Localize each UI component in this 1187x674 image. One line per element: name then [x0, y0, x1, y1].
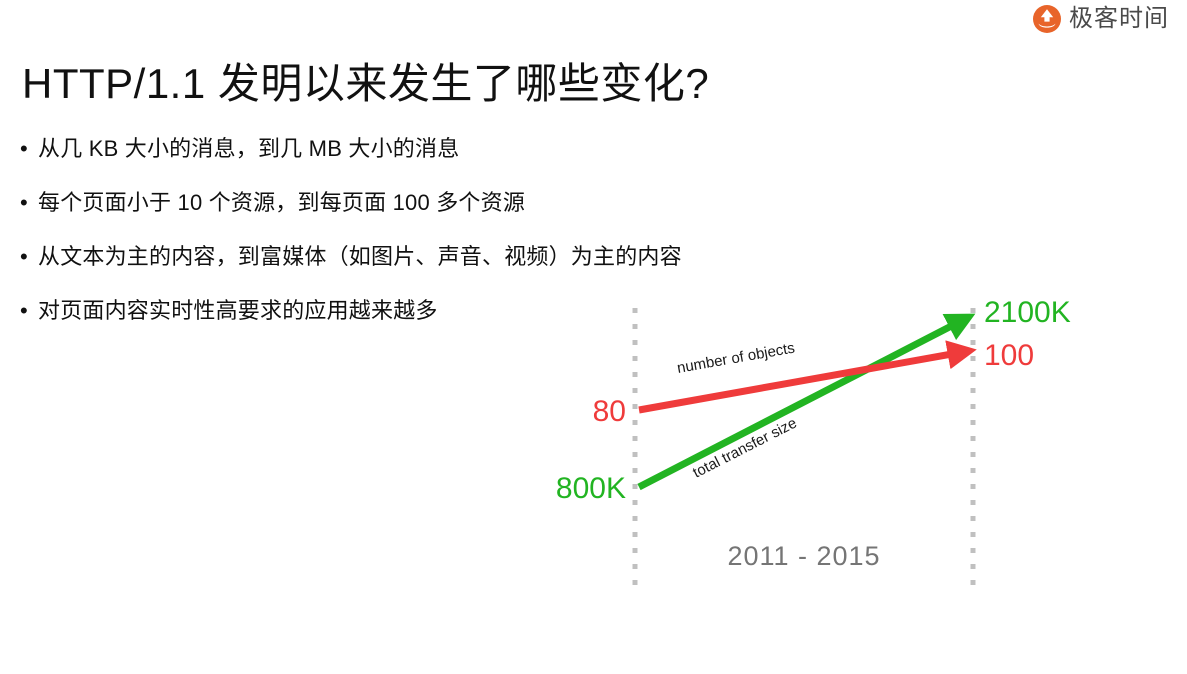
- slide-canvas: 极客时间 HTTP/1.1 发明以来发生了哪些变化? • 从几 KB 大小的消息…: [0, 0, 1187, 674]
- bullet-marker-icon: •: [20, 188, 38, 218]
- list-item: • 从几 KB 大小的消息，到几 MB 大小的消息: [20, 134, 920, 164]
- list-item-label: 对页面内容实时性高要求的应用越来越多: [38, 296, 438, 326]
- list-item: • 从文本为主的内容，到富媒体（如图片、声音、视频）为主的内容: [20, 242, 920, 272]
- list-item-label: 每个页面小于 10 个资源，到每页面 100 多个资源: [38, 188, 525, 218]
- bullet-marker-icon: •: [20, 134, 38, 164]
- period-label: 2011 - 2015: [727, 541, 880, 571]
- bullet-marker-icon: •: [20, 242, 38, 272]
- bullet-marker-icon: •: [20, 296, 38, 326]
- geektime-logo-icon: [1032, 4, 1062, 34]
- brand-name: 极客时间: [1069, 4, 1169, 34]
- value-label-transfer-start: 800K: [556, 472, 626, 505]
- list-item: • 每个页面小于 10 个资源，到每页面 100 多个资源: [20, 188, 920, 218]
- brand-logo: 极客时间: [1032, 4, 1169, 34]
- series-label-number-of-objects: number of objects: [676, 339, 796, 376]
- value-label-objects-start: 80: [593, 395, 626, 428]
- value-label-transfer-end: 2100K: [984, 296, 1071, 329]
- list-item-label: 从文本为主的内容，到富媒体（如图片、声音、视频）为主的内容: [38, 242, 682, 272]
- growth-chart: number of objects total transfer size 80…: [520, 280, 1140, 600]
- value-label-objects-end: 100: [984, 339, 1034, 372]
- page-title: HTTP/1.1 发明以来发生了哪些变化?: [22, 50, 709, 111]
- series-label-total-transfer-size: total transfer size: [690, 415, 799, 482]
- list-item-label: 从几 KB 大小的消息，到几 MB 大小的消息: [38, 134, 459, 164]
